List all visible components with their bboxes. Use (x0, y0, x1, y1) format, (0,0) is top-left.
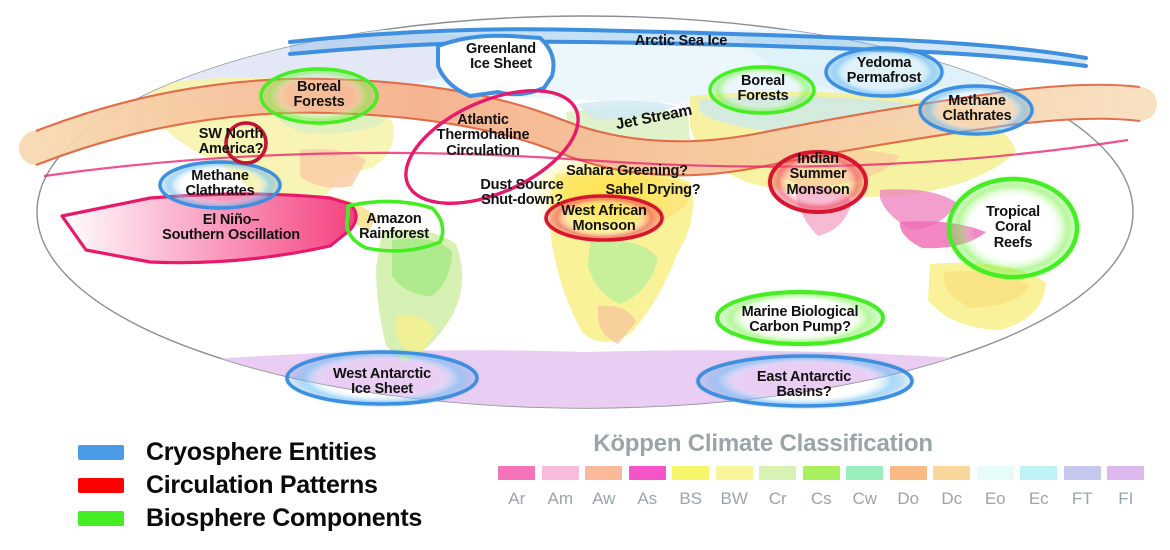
label-greenland-ice-sheet[interactable]: Greenland Ice Sheet (442, 42, 560, 73)
koppen-item-ec[interactable]: Ec (1017, 466, 1061, 509)
label-sahara-greening[interactable]: Sahara Greening? (544, 164, 710, 179)
climate-tipping-points-figure: Arctic Sea Ice Greenland Ice Sheet Borea… (0, 0, 1170, 550)
koppen-swatch-as (629, 466, 666, 480)
koppen-swatch-cw (846, 466, 883, 480)
koppen-code-fi: FI (1118, 489, 1133, 509)
label-yedoma-permafrost[interactable]: Yedoma Permafrost (820, 56, 948, 87)
label-tropical-coral-reefs[interactable]: Tropical Coral Reefs (963, 205, 1063, 251)
label-sahel-drying[interactable]: Sahel Drying? (582, 183, 724, 198)
koppen-swatch-bw (716, 466, 753, 480)
koppen-item-eo[interactable]: Eo (974, 466, 1018, 509)
koppen-swatch-eo (977, 466, 1014, 480)
koppen-swatch-bs (672, 466, 709, 480)
koppen-swatch-am (542, 466, 579, 480)
koppen-item-dc[interactable]: Dc (930, 466, 974, 509)
koppen-swatch-dc (933, 466, 970, 480)
legend-item-circulation[interactable]: Circulation Patterns (78, 471, 378, 500)
koppen-code-aw: Aw (592, 489, 615, 509)
legend-swatch-cryosphere (78, 445, 124, 460)
legend-label-circulation: Circulation Patterns (146, 471, 378, 500)
label-indian-summer-monsoon[interactable]: Indian Summer Monsoon (768, 152, 868, 198)
koppen-swatch-cr (759, 466, 796, 480)
koppen-code-am: Am (548, 489, 574, 509)
label-methane-clathrates-west[interactable]: Methane Clathrates (161, 169, 279, 200)
koppen-item-am[interactable]: Am (539, 466, 583, 509)
koppen-code-cs: Cs (811, 489, 832, 509)
koppen-legend: Köppen Climate Classification Ar Am Aw A… (495, 430, 1155, 509)
label-methane-clathrates-east[interactable]: Methane Clathrates (918, 94, 1036, 125)
legend-area: Cryosphere Entities Circulation Patterns… (0, 430, 1170, 550)
label-arctic-sea-ice[interactable]: Arctic Sea Ice (606, 34, 756, 49)
koppen-item-fi[interactable]: FI (1104, 466, 1148, 509)
label-marine-biological-carbon-pump[interactable]: Marine Biological Carbon Pump? (717, 305, 883, 336)
koppen-swatch-strip: Ar Am Aw As BS (495, 466, 1155, 509)
label-east-antarctic-basins[interactable]: East Antarctic Basins? (730, 370, 878, 401)
label-west-african-monsoon[interactable]: West African Monsoon (545, 204, 663, 235)
koppen-item-bs[interactable]: BS (669, 466, 713, 509)
koppen-swatch-cs (803, 466, 840, 480)
koppen-swatch-ar (498, 466, 535, 480)
koppen-item-as[interactable]: As (626, 466, 670, 509)
legend-label-cryosphere: Cryosphere Entities (146, 438, 376, 467)
koppen-swatch-aw (585, 466, 622, 480)
label-amazon-rainforest[interactable]: Amazon Rainforest (339, 212, 449, 243)
koppen-code-ar: Ar (508, 489, 525, 509)
label-sw-north-america[interactable]: SW North America? (172, 127, 290, 158)
koppen-swatch-ft (1064, 466, 1101, 480)
koppen-code-ft: FT (1072, 489, 1093, 509)
koppen-item-bw[interactable]: BW (713, 466, 757, 509)
koppen-code-bs: BS (679, 489, 702, 509)
koppen-title: Köppen Climate Classification (503, 430, 1023, 458)
koppen-swatch-do (890, 466, 927, 480)
koppen-swatch-fi (1107, 466, 1144, 480)
koppen-item-cs[interactable]: Cs (800, 466, 844, 509)
koppen-swatch-ec (1020, 466, 1057, 480)
koppen-item-aw[interactable]: Aw (582, 466, 626, 509)
koppen-code-cw: Cw (852, 489, 877, 509)
label-boreal-forests-east[interactable]: Boreal Forests (707, 74, 819, 105)
koppen-code-bw: BW (721, 489, 748, 509)
koppen-code-eo: Eo (985, 489, 1006, 509)
koppen-item-do[interactable]: Do (887, 466, 931, 509)
koppen-code-as: As (637, 489, 657, 509)
koppen-code-dc: Dc (941, 489, 962, 509)
koppen-code-cr: Cr (769, 489, 787, 509)
label-boreal-forests-west[interactable]: Boreal Forests (263, 80, 375, 111)
koppen-code-ec: Ec (1029, 489, 1049, 509)
legend-item-cryosphere[interactable]: Cryosphere Entities (78, 438, 376, 467)
legend-label-biosphere: Biosphere Components (146, 504, 422, 533)
koppen-item-cw[interactable]: Cw (843, 466, 887, 509)
koppen-item-cr[interactable]: Cr (756, 466, 800, 509)
label-el-nino-southern-oscillation[interactable]: El Niño– Southern Oscillation (126, 213, 336, 244)
legend-swatch-circulation (78, 478, 124, 493)
label-atlantic-thermohaline-circulation[interactable]: Atlantic Thermohaline Circulation (410, 113, 556, 159)
legend-item-biosphere[interactable]: Biosphere Components (78, 504, 422, 533)
label-west-antarctic-ice-sheet[interactable]: West Antarctic Ice Sheet (308, 367, 456, 398)
koppen-item-ar[interactable]: Ar (495, 466, 539, 509)
legend-swatch-biosphere (78, 511, 124, 526)
koppen-code-do: Do (897, 489, 919, 509)
koppen-item-ft[interactable]: FT (1061, 466, 1105, 509)
